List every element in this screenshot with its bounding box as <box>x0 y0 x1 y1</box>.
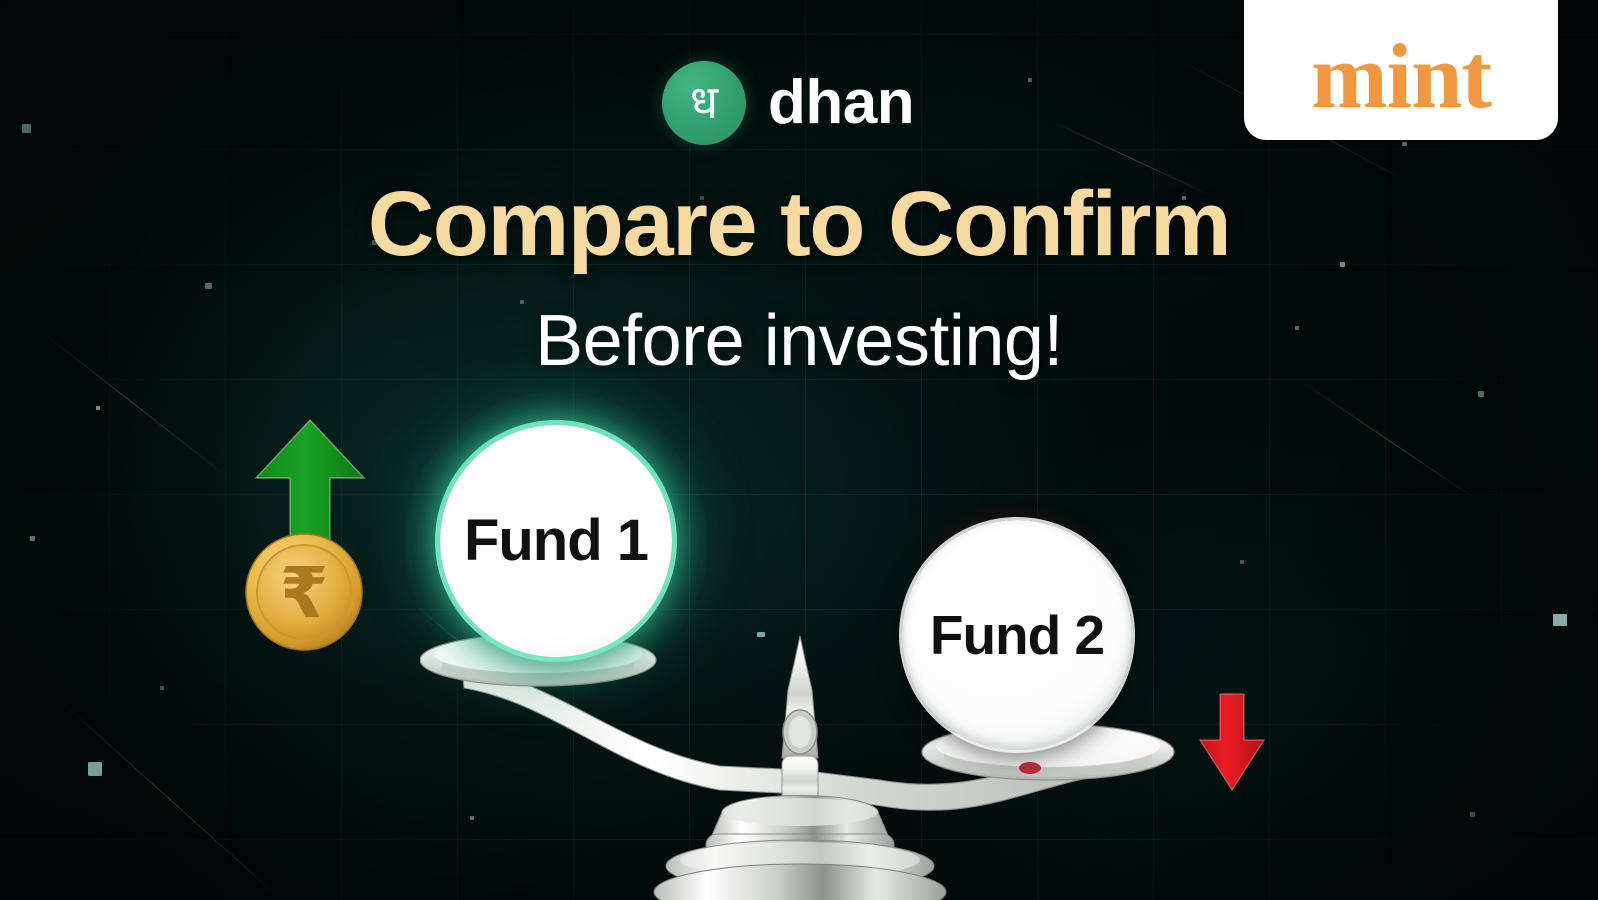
up-indicator: ₹ <box>232 412 392 662</box>
subheadline-text: Before investing! <box>535 305 1063 377</box>
rupee-coin-glyph: ₹ <box>280 552 329 634</box>
background-particle <box>1478 391 1484 397</box>
background-particle <box>1402 142 1407 146</box>
background-particle <box>160 686 164 690</box>
dhan-mark-glyph: ध <box>690 79 718 125</box>
headline: Compare to Confirm <box>0 178 1598 270</box>
background-particle <box>88 762 102 776</box>
background-particle <box>205 283 212 289</box>
mint-wordmark: mint <box>1311 30 1491 140</box>
background-particle <box>22 124 31 133</box>
fund-2-label: Fund 2 <box>930 608 1104 663</box>
background-particle <box>1470 812 1475 817</box>
arrow-up-icon: ₹ <box>232 412 392 662</box>
fund-2-disc[interactable]: Fund 2 <box>902 520 1132 750</box>
background-particle <box>1240 560 1244 564</box>
dhan-logo: ध dhan <box>662 61 914 145</box>
mint-logo-badge: mint <box>1244 0 1558 140</box>
background-particle <box>1553 614 1567 626</box>
dhan-wordmark: dhan <box>768 72 914 134</box>
background-particle <box>30 536 35 541</box>
down-indicator <box>1192 688 1272 798</box>
subheadline: Before investing! <box>0 305 1598 377</box>
fund-1-disc[interactable]: Fund 1 <box>440 425 672 657</box>
fund-1-label: Fund 1 <box>464 512 648 570</box>
background-particle <box>1028 78 1032 82</box>
right-pan-marker <box>1019 762 1041 774</box>
background-particle <box>96 406 100 410</box>
promo-graphic: ध dhan mint Compare to Confirm Before in… <box>0 0 1598 900</box>
dhan-devanagari-mark-icon: ध <box>662 61 746 145</box>
background-particle <box>520 300 524 304</box>
headline-text: Compare to Confirm <box>368 178 1230 270</box>
arrow-down-icon <box>1192 688 1272 798</box>
